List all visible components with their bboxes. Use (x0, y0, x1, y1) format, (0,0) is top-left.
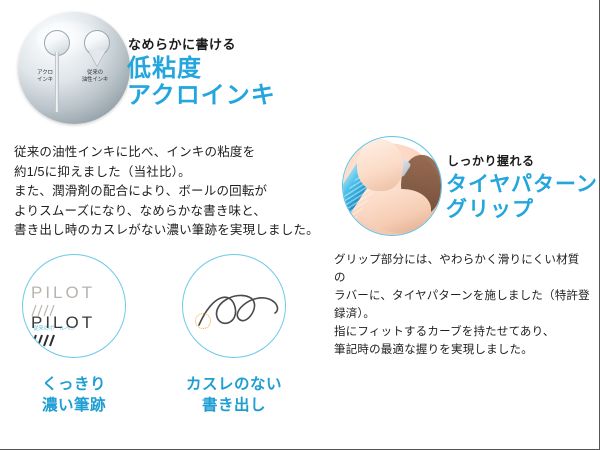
feature-2-kicker: しっかり握れる (447, 152, 535, 169)
hand-holding-pen-photo (342, 136, 442, 236)
ink-viscosity-sphere-illustration: アクロ インキ 従来の 油性インキ (18, 12, 130, 124)
writing-sample-scribble (182, 254, 286, 358)
writing-sample-pilot: PILOT 従来のボールペン PILOT アクロボール (22, 254, 126, 358)
conventional-ink-drop-label: 従来の 油性インキ (78, 70, 112, 84)
product-feature-page: アクロ インキ 従来の 油性インキ なめらかに書ける 低粘度 アクロインキ 従来… (0, 0, 600, 450)
conventional-ink-drop-tail (88, 50, 106, 66)
scribble-stroke-icon (183, 255, 286, 358)
feature-2-body-text: グリップ部分には、やわらかく滑りにくい材質の ラバーに、タイヤパターンを施しまし… (334, 251, 590, 359)
feature-1-headline: 低粘度 アクロインキ (127, 55, 276, 109)
stroke-start-highlight (195, 313, 211, 329)
feature-1-body-text: 従来の油性インキに比べ、インキの粘度を 約1/5に抑えました（当社比）。 また、… (14, 143, 334, 241)
sample-caption-no-skip: カスレのない 書き出し (164, 374, 304, 416)
acro-ink-drop-label: アクロ インキ (28, 70, 62, 84)
sample-caption-dark-stroke: くっきり 濃い筆跡 (4, 374, 144, 416)
feature-2-headline: タイヤパターン グリップ (446, 172, 598, 222)
dark-scribble-icon (31, 333, 57, 349)
pilot-word-dark: PILOT (31, 313, 95, 332)
middle-finger-shape (369, 189, 431, 233)
feature-1-kicker: なめらかに書ける (128, 34, 236, 53)
pilot-word-faint: PILOT (31, 283, 95, 302)
index-finger-shape (357, 139, 403, 191)
sample-line-acro: PILOT アクロボール (31, 313, 125, 358)
sample-note-acro: アクロボール (33, 354, 125, 358)
